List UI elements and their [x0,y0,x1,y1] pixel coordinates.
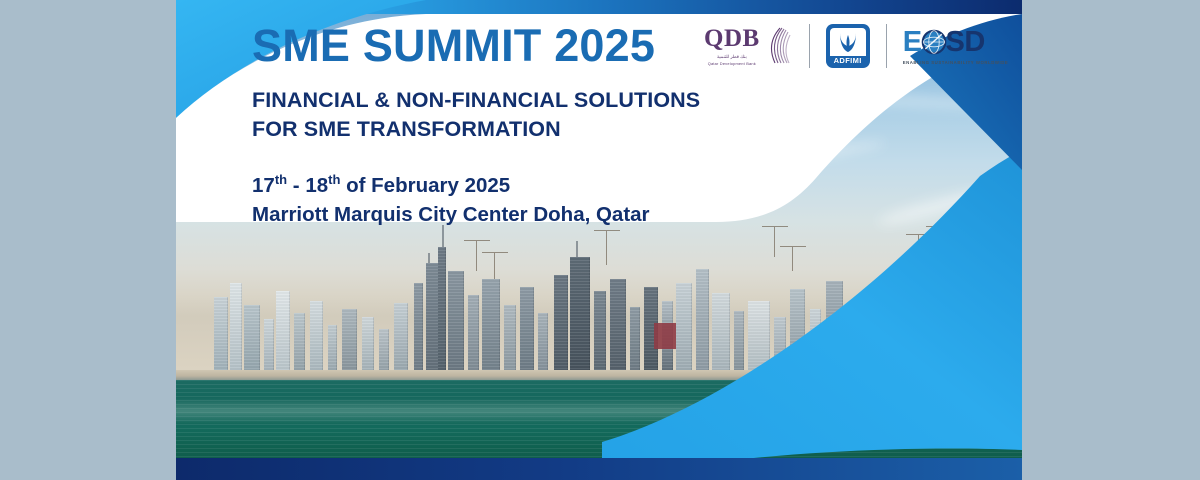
eosd-wordmark: E SD [903,28,1009,57]
building-windows [342,309,357,375]
logo-divider [809,24,810,68]
building-windows [379,329,389,375]
building-windows [394,303,408,375]
eosd-logo: E SD ENABLING SUSTAINABILITY WORLDWIDE [903,28,1009,65]
sponsor-logo-row: QDB بنك قطر للتنمية Qatar Development Ba… [704,24,1008,68]
building-windows [214,297,228,375]
building-windows [570,257,590,375]
building-windows [538,313,548,375]
logo-divider [886,24,887,68]
event-title: SME SUMMIT 2025 [252,22,700,69]
building-spire [428,253,430,263]
eosd-letter-e: E [903,28,922,57]
qdb-wordmark: QDB [704,26,760,51]
date-ordinal-end: th [328,172,340,187]
qdb-english-name: Qatar Development Bank [704,61,760,67]
event-venue: Marriott Marquis City Center Doha, Qatar [252,200,700,229]
building-windows [294,313,305,375]
building-windows [310,301,323,375]
bottom-accent-bar [176,458,1022,480]
qdb-logo-text: QDB بنك قطر للتنمية Qatar Development Ba… [704,26,760,67]
building-windows [362,317,374,375]
date-separator: - [287,174,305,197]
construction-crane-arm [482,252,508,253]
event-date: 17th - 18th of February 2025 [252,171,700,200]
adfimi-tulip-icon [837,31,859,54]
building-windows [438,247,446,375]
event-subtitle: FINANCIAL & NON-FINANCIAL SOLUTIONS FOR … [252,86,700,144]
building-windows [264,319,274,375]
building-spire [576,241,578,257]
qdb-flame-icon [767,26,793,66]
event-details: 17th - 18th of February 2025 Marriott Ma… [252,171,700,229]
building-windows [328,325,337,375]
date-rest: of February 2025 [340,174,510,197]
construction-crane [476,241,477,271]
building-windows [554,275,568,375]
building-windows [230,283,242,375]
building-windows [468,295,479,375]
qdb-logo: QDB بنك قطر للتنمية Qatar Development Ba… [704,26,793,67]
building-windows [276,291,290,375]
eosd-letters-sd: SD [946,28,985,57]
date-day-end: 18 [305,174,328,197]
building-windows [482,279,500,375]
adfimi-logo: ADFIMI [826,24,870,68]
construction-crane [494,253,495,279]
date-day-start: 17 [252,174,275,197]
header-text-block: SME SUMMIT 2025 FINANCIAL & NON-FINANCIA… [176,0,700,229]
adfimi-wordmark: ADFIMI [826,56,870,65]
eosd-tagline: ENABLING SUSTAINABILITY WORLDWIDE [903,60,1009,65]
building-windows [414,283,423,375]
building-windows [448,271,464,375]
qdb-arabic-name: بنك قطر للتنمية [704,54,760,61]
date-ordinal-start: th [275,172,287,187]
building-windows [244,305,260,375]
event-banner: SME SUMMIT 2025 FINANCIAL & NON-FINANCIA… [176,0,1022,480]
building-windows [520,287,534,375]
subtitle-line-1: FINANCIAL & NON-FINANCIAL SOLUTIONS [252,86,700,115]
building-windows [504,305,516,375]
eosd-globe-icon [921,29,947,55]
subtitle-line-2: FOR SME TRANSFORMATION [252,115,700,144]
